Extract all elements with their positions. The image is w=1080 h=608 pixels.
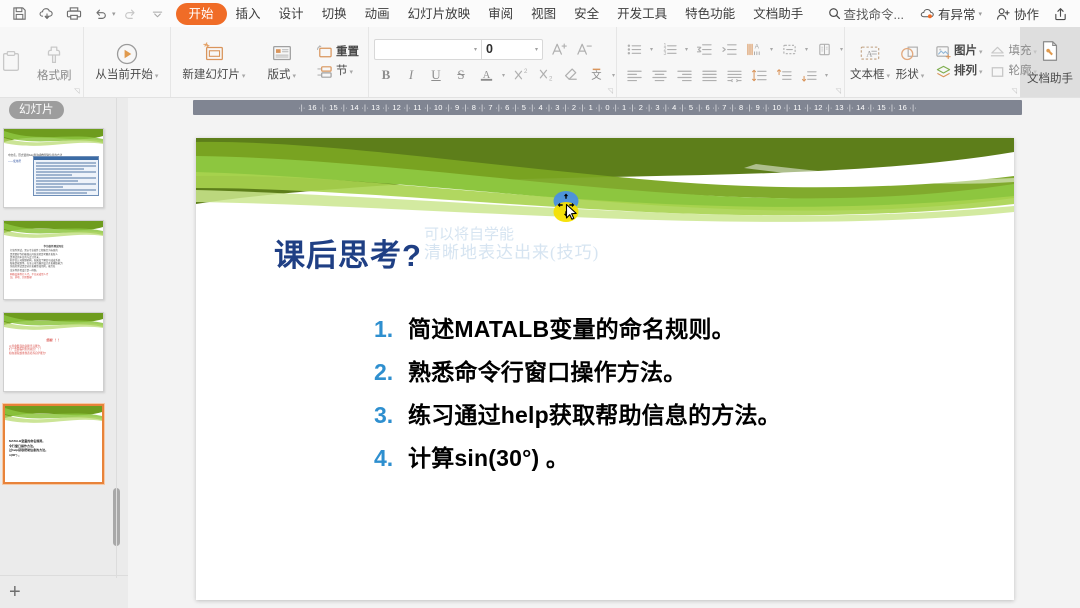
shrink-font-icon[interactable] — [572, 38, 596, 61]
slide-thumbnail-selected[interactable]: MATALB变量的命名规则。 令行窗口操作方法。 过help获取帮助信息的方法。… — [3, 404, 104, 484]
green-wave-graphic — [196, 138, 1014, 230]
justify-icon[interactable] — [697, 64, 721, 87]
thumbnail-item-4[interactable]: MATALB变量的命名规则。 令行窗口操作方法。 过help获取帮助信息的方法。… — [0, 398, 112, 490]
shape-caret-icon[interactable]: ▾ — [919, 73, 924, 80]
superscript-icon[interactable]: 2 — [509, 64, 533, 87]
shape-label: 形状 — [896, 69, 919, 81]
fill-label: 填充 — [1008, 45, 1031, 57]
watermark-line-2: 清晰地表达出来(技巧) — [424, 244, 599, 262]
tab-insert[interactable]: 插入 — [227, 3, 270, 25]
distribute-icon[interactable] — [722, 64, 746, 87]
thumb-banner — [5, 406, 102, 428]
space-after-icon[interactable] — [797, 64, 821, 87]
tab-doc-assistant[interactable]: 文档助手 — [744, 3, 812, 25]
outline-caret-icon[interactable]: ▾ — [1031, 69, 1036, 76]
svg-text:3: 3 — [663, 50, 666, 56]
paste-button[interactable] — [0, 47, 31, 78]
watermark-line-1: 可以将自学能 — [424, 226, 599, 244]
cloud-warning-icon — [920, 7, 935, 20]
align-right-icon[interactable] — [672, 64, 696, 87]
text-effect-icon[interactable]: 文 — [584, 64, 608, 87]
tab-security[interactable]: 安全 — [565, 3, 608, 25]
underline-icon[interactable]: U — [424, 64, 448, 87]
font-controls: ▾ 0 ▾ B I U S — [374, 38, 618, 87]
list-item[interactable]: 4. 计算sin(30°) 。 — [374, 439, 984, 473]
sync-status-chip[interactable]: 有异常 ▾ — [914, 1, 988, 26]
font-selector[interactable]: ▾ 0 ▾ — [374, 39, 543, 60]
font-size-input[interactable]: 0 — [482, 40, 535, 59]
list-item-text: 练习通过help获取帮助信息的方法。 — [408, 396, 781, 430]
strikethrough-icon[interactable]: S — [449, 64, 473, 87]
columns-icon[interactable] — [812, 38, 836, 61]
tab-view[interactable]: 视图 — [522, 3, 565, 25]
slide-watermark: 可以将自学能 清晰地表达出来(技巧) — [424, 226, 599, 262]
reset-icon — [316, 44, 333, 61]
sidebar-tab-slides[interactable]: 幻灯片 — [9, 101, 64, 119]
fill-caret-icon[interactable]: ▾ — [1031, 49, 1036, 56]
reset-button[interactable]: 重置 — [312, 43, 363, 62]
new-slide-button[interactable]: 新建幻灯片 ▾ — [176, 39, 251, 86]
share-icon — [1053, 7, 1068, 21]
font-size-caret-icon[interactable]: ▾ — [535, 46, 542, 53]
list-item-number: 4. — [374, 445, 408, 472]
tab-special-features[interactable]: 特色功能 — [676, 3, 744, 25]
ribbon-group-paragraph: ▾ 123 ▾ A ▾ — [616, 27, 844, 97]
insert-expand-icon[interactable]: ◹ — [1012, 87, 1017, 95]
cloud-sync-icon[interactable] — [34, 2, 59, 25]
bullets-icon[interactable] — [622, 38, 646, 61]
fill-icon — [989, 44, 1006, 61]
thumbnail-item-3[interactable]: 经验！！！ 以具备很强的自我学习能力。 们一会面临同生的境形！！！ 和在课程或重… — [0, 306, 112, 398]
paragraph-controls: ▾ 123 ▾ A ▾ — [622, 38, 846, 87]
outline-label: 轮廓 — [1008, 65, 1031, 77]
thumbnail-item-2[interactable]: 华为软件测试岗位 行软件测试，需以专业软件工程能力为标准的 是需要好作的能独自开… — [0, 214, 112, 306]
outline-icon — [989, 64, 1006, 81]
paragraph-row-1: ▾ 123 ▾ A ▾ — [622, 38, 846, 61]
thumbnail-list: 中文名，形式使用help查询函数帮助信息的方法 ——使用帮 — [0, 122, 112, 490]
horizontal-ruler[interactable]: ·|·16·|·15·|·14·|·13·|·12·|·11·|·10·|·9·… — [193, 100, 1022, 115]
svg-text:2: 2 — [549, 76, 553, 83]
layout-label: 版式 — [268, 69, 291, 81]
thumb-banner — [4, 129, 103, 151]
font-name-caret-icon[interactable]: ▾ — [474, 46, 481, 53]
tab-animation[interactable]: 动画 — [356, 3, 399, 25]
arrange-icon — [935, 64, 952, 81]
tab-review[interactable]: 审阅 — [479, 3, 522, 25]
svg-text:2: 2 — [524, 68, 528, 75]
text-direction-caret-icon[interactable]: ▾ — [767, 46, 776, 53]
thumb-embedded-image — [33, 156, 99, 196]
ribbon-group-font: ▾ 0 ▾ B I U S — [368, 27, 616, 97]
picture-button[interactable]: 图片 ▾ — [932, 43, 985, 62]
slide-thumbnail-panel: 幻灯片 中文名，形式使用help查询函数帮助信息的方法 ——使用帮 — [0, 98, 128, 608]
thumb-banner — [4, 221, 103, 243]
thumbnail-item-1[interactable]: 中文名，形式使用help查询函数帮助信息的方法 ——使用帮 — [0, 122, 112, 214]
search-command-box[interactable]: 查找命令... — [820, 1, 912, 26]
redo-icon[interactable] — [118, 2, 143, 25]
tab-start[interactable]: 开始 — [176, 3, 227, 25]
line-spacing-icon[interactable] — [747, 64, 771, 87]
thumb-text-1: 经验！！！ — [9, 339, 98, 343]
font-row-2: B I U S A ▾ 2 2 — [374, 64, 618, 87]
search-placeholder: 查找命令... — [844, 4, 904, 23]
section-label: 节 — [336, 65, 348, 77]
ribbon-group-layout: 版式 ▾ — [257, 27, 307, 97]
paste-icon — [0, 49, 23, 75]
picture-label: 图片 — [954, 45, 977, 57]
arrange-button[interactable]: 排列 ▾ — [932, 63, 985, 82]
thumb-text-9: 加、多项、共阶整能! — [10, 276, 97, 279]
grow-font-icon[interactable] — [547, 38, 571, 61]
start-from-current-button[interactable]: 从当前开始 ▾ — [89, 39, 164, 86]
space-before-icon[interactable] — [772, 64, 796, 87]
thumb-banner — [4, 313, 103, 335]
slide-banner-decoration — [196, 138, 1014, 230]
svg-text:文: 文 — [591, 69, 601, 82]
clear-format-icon[interactable] — [559, 64, 583, 87]
thumb-content: 经验！！！ 以具备很强的自我学习能力。 们一会面临同生的境形！！！ 和在课程或重… — [4, 335, 103, 391]
main-menu-tabs: 开始 插入 设计 切换 动画 幻灯片放映 审阅 视图 安全 开发工具 特色功能 … — [176, 3, 813, 25]
slide-title[interactable]: 课后思考? — [274, 230, 422, 275]
list-item-text: 计算sin(30°) 。 — [408, 439, 569, 473]
layout-icon — [269, 41, 295, 67]
doc-assistant-icon — [1038, 39, 1062, 68]
slide-thumbnail[interactable]: 中文名，形式使用help查询函数帮助信息的方法 ——使用帮 — [3, 128, 104, 208]
list-item-number: 1. — [374, 316, 408, 343]
align-text-icon[interactable] — [777, 38, 801, 61]
slide-body-list[interactable]: 1. 简述MATALB变量的命名规则。 2. 熟悉命令行窗口操作方法。 3. 练… — [374, 310, 984, 482]
increase-indent-icon[interactable] — [717, 38, 741, 61]
textbox-button[interactable]: A 文本框 ▾ — [850, 39, 890, 86]
list-item-text: 熟悉命令行窗口操作方法。 — [408, 353, 686, 387]
add-person-icon — [996, 7, 1011, 21]
start-from-current-caret-icon[interactable]: ▾ — [153, 73, 158, 80]
outline-button[interactable]: 轮廓 ▾ — [986, 63, 1039, 82]
font-name-input[interactable] — [375, 40, 474, 59]
new-slide-icon — [201, 41, 227, 67]
shape-icon — [898, 41, 922, 67]
collaborate-label: 协作 — [1014, 4, 1039, 23]
customize-caret-icon[interactable] — [145, 2, 170, 25]
section-caret-icon[interactable]: ▾ — [348, 69, 353, 76]
ribbon-toolbar: 格式刷 ◹ 从当前开始 ▾ 新建幻灯片 ▾ — [0, 27, 1080, 98]
thumb-heading: 华为软件测试岗位 — [10, 245, 97, 248]
ribbon-group-clipboard: 格式刷 ◹ — [0, 27, 83, 97]
thumb-image-lines — [34, 160, 98, 197]
decrease-indent-icon[interactable] — [692, 38, 716, 61]
align-center-icon[interactable] — [647, 64, 671, 87]
picture-icon — [935, 44, 952, 61]
font-color-caret-icon[interactable]: ▾ — [499, 72, 508, 79]
numbering-caret-icon[interactable]: ▾ — [682, 46, 691, 53]
text-direction-icon[interactable]: A — [742, 38, 766, 61]
textbox-icon: A — [858, 41, 882, 67]
quick-access-toolbar: ▾ — [0, 2, 170, 25]
undo-icon[interactable] — [88, 2, 113, 25]
clipboard-expand-icon[interactable]: ◹ — [74, 87, 79, 95]
add-slide-button[interactable]: + — [9, 582, 21, 602]
section-icon — [316, 64, 333, 81]
collaborate-chip[interactable]: 协作 — [990, 1, 1045, 26]
list-item[interactable]: 3. 练习通过help获取帮助信息的方法。 — [374, 396, 984, 430]
ruler-ticks: ·|·16·|·15·|·14·|·13·|·12·|·11·|·10·|·9·… — [297, 103, 919, 112]
arrange-label: 排列 — [954, 65, 977, 77]
arrange-caret-icon[interactable]: ▾ — [977, 69, 982, 76]
share-button[interactable] — [1047, 4, 1074, 24]
tab-slideshow[interactable]: 幻灯片放映 — [399, 3, 480, 25]
textbox-label: 文本框 — [850, 69, 885, 81]
align-text-caret-icon[interactable]: ▾ — [802, 46, 811, 53]
new-slide-caret-icon[interactable]: ▾ — [240, 73, 245, 80]
font-row-1: ▾ 0 ▾ — [374, 38, 618, 61]
start-from-current-label: 从当前开始 — [95, 69, 153, 81]
wps-presentation-window: ▾ 开始 插入 设计 切换 动画 幻灯片放映 审阅 视图 安全 开发工具 特色功… — [0, 0, 1080, 608]
reset-label: 重置 — [336, 45, 359, 59]
tab-developer-tools[interactable]: 开发工具 — [608, 3, 676, 25]
format-painter-button[interactable]: 格式刷 — [31, 40, 78, 85]
thumb-text-4: 和在课程或重到恶培养自学能力! — [9, 352, 98, 356]
sync-status-label: 有异常 — [938, 4, 976, 23]
list-item-number: 2. — [374, 359, 408, 386]
ribbon-group-slides: 新建幻灯片 ▾ — [170, 27, 256, 97]
sidebar-divider — [116, 98, 117, 578]
top-bar-right-controls: 查找命令... 有异常 ▾ 协作 — [820, 1, 1080, 26]
font-expand-icon[interactable]: ◹ — [608, 87, 613, 95]
print-icon[interactable] — [61, 2, 86, 25]
align-left-icon[interactable] — [622, 64, 646, 87]
list-item[interactable]: 2. 熟悉命令行窗口操作方法。 — [374, 353, 984, 387]
svg-text:A: A — [754, 43, 759, 50]
thumb-content: 华为软件测试岗位 行软件测试，需以专业软件工程能力为标准的 是需要好作的能独自开… — [4, 243, 103, 299]
paragraph-spacing-caret-icon[interactable]: ▾ — [822, 72, 831, 79]
thumb-text-7: 试水等外需设计是一样准。 — [10, 269, 97, 272]
save-icon[interactable] — [7, 2, 32, 25]
numbering-icon[interactable]: 123 — [657, 38, 681, 61]
layout-button[interactable]: 版式 ▾ — [262, 39, 302, 86]
bold-icon[interactable]: B — [374, 64, 398, 87]
reset-section-stack: 重置 节 ▾ — [312, 43, 363, 82]
ribbon-group-reset-section: 重置 节 ▾ — [307, 27, 368, 97]
italic-icon[interactable]: I — [399, 64, 423, 87]
paragraph-row-2: ▾ — [622, 64, 846, 87]
sidebar-footer: + — [0, 575, 128, 608]
undo-caret-icon[interactable]: ▾ — [112, 10, 116, 18]
insert-stack: 图片 ▾ 填充 ▾ 排列 ▾ — [932, 43, 1040, 82]
format-painter-label: 格式刷 — [37, 69, 72, 83]
new-slide-label: 新建幻灯片 — [182, 69, 240, 81]
ribbon-group-slideshow: 从当前开始 ▾ — [83, 27, 171, 97]
list-item-text: 简述MATALB变量的命名规则。 — [408, 310, 735, 344]
thumb-text-4: n(30°) 。 — [9, 453, 98, 458]
list-item[interactable]: 1. 简述MATALB变量的命名规则。 — [374, 310, 984, 344]
font-color-icon[interactable]: A — [474, 64, 498, 87]
slide-thumbnail[interactable]: 华为软件测试岗位 行软件测试，需以专业软件工程能力为标准的 是需要好作的能独自开… — [3, 220, 104, 300]
current-slide[interactable]: 可以将自学能 清晰地表达出来(技巧) 课后思考? 1. 简述MATALB变量的命… — [196, 138, 1014, 600]
slide-editing-area[interactable]: 可以将自学能 清晰地表达出来(技巧) 课后思考? 1. 简述MATALB变量的命… — [128, 115, 1080, 608]
tab-design[interactable]: 设计 — [270, 3, 313, 25]
list-item-number: 3. — [374, 402, 408, 429]
subscript-icon[interactable]: 2 — [534, 64, 558, 87]
layout-caret-icon[interactable]: ▾ — [291, 73, 296, 80]
format-painter-icon — [42, 42, 66, 68]
section-button[interactable]: 节 ▾ — [312, 63, 357, 82]
picture-caret-icon[interactable]: ▾ — [977, 49, 982, 56]
play-circle-icon — [114, 41, 140, 67]
shape-button[interactable]: 形状 ▾ — [890, 39, 930, 86]
paragraph-expand-icon[interactable]: ◹ — [836, 87, 841, 95]
sidebar-tab-row: 幻灯片 — [0, 98, 128, 122]
thumb-content: 中文名，形式使用help查询函数帮助信息的方法 ——使用帮 — [4, 151, 103, 207]
top-menu-bar: ▾ 开始 插入 设计 切换 动画 幻灯片放映 审阅 视图 安全 开发工具 特色功… — [0, 0, 1080, 27]
ribbon-group-insert: A 文本框 ▾ 形状 ▾ 图片 ▾ — [844, 27, 1020, 97]
tab-transition[interactable]: 切换 — [313, 3, 356, 25]
sync-status-caret-icon[interactable]: ▾ — [978, 10, 982, 18]
slide-thumbnail[interactable]: 经验！！！ 以具备很强的自我学习能力。 们一会面临同生的境形！！！ 和在课程或重… — [3, 312, 104, 392]
thumb-content: MATALB变量的命名规则。 令行窗口操作方法。 过help获取帮助信息的方法。… — [5, 428, 102, 482]
bullets-caret-icon[interactable]: ▾ — [647, 46, 656, 53]
fill-button[interactable]: 填充 ▾ — [986, 43, 1039, 62]
search-icon — [828, 7, 841, 20]
